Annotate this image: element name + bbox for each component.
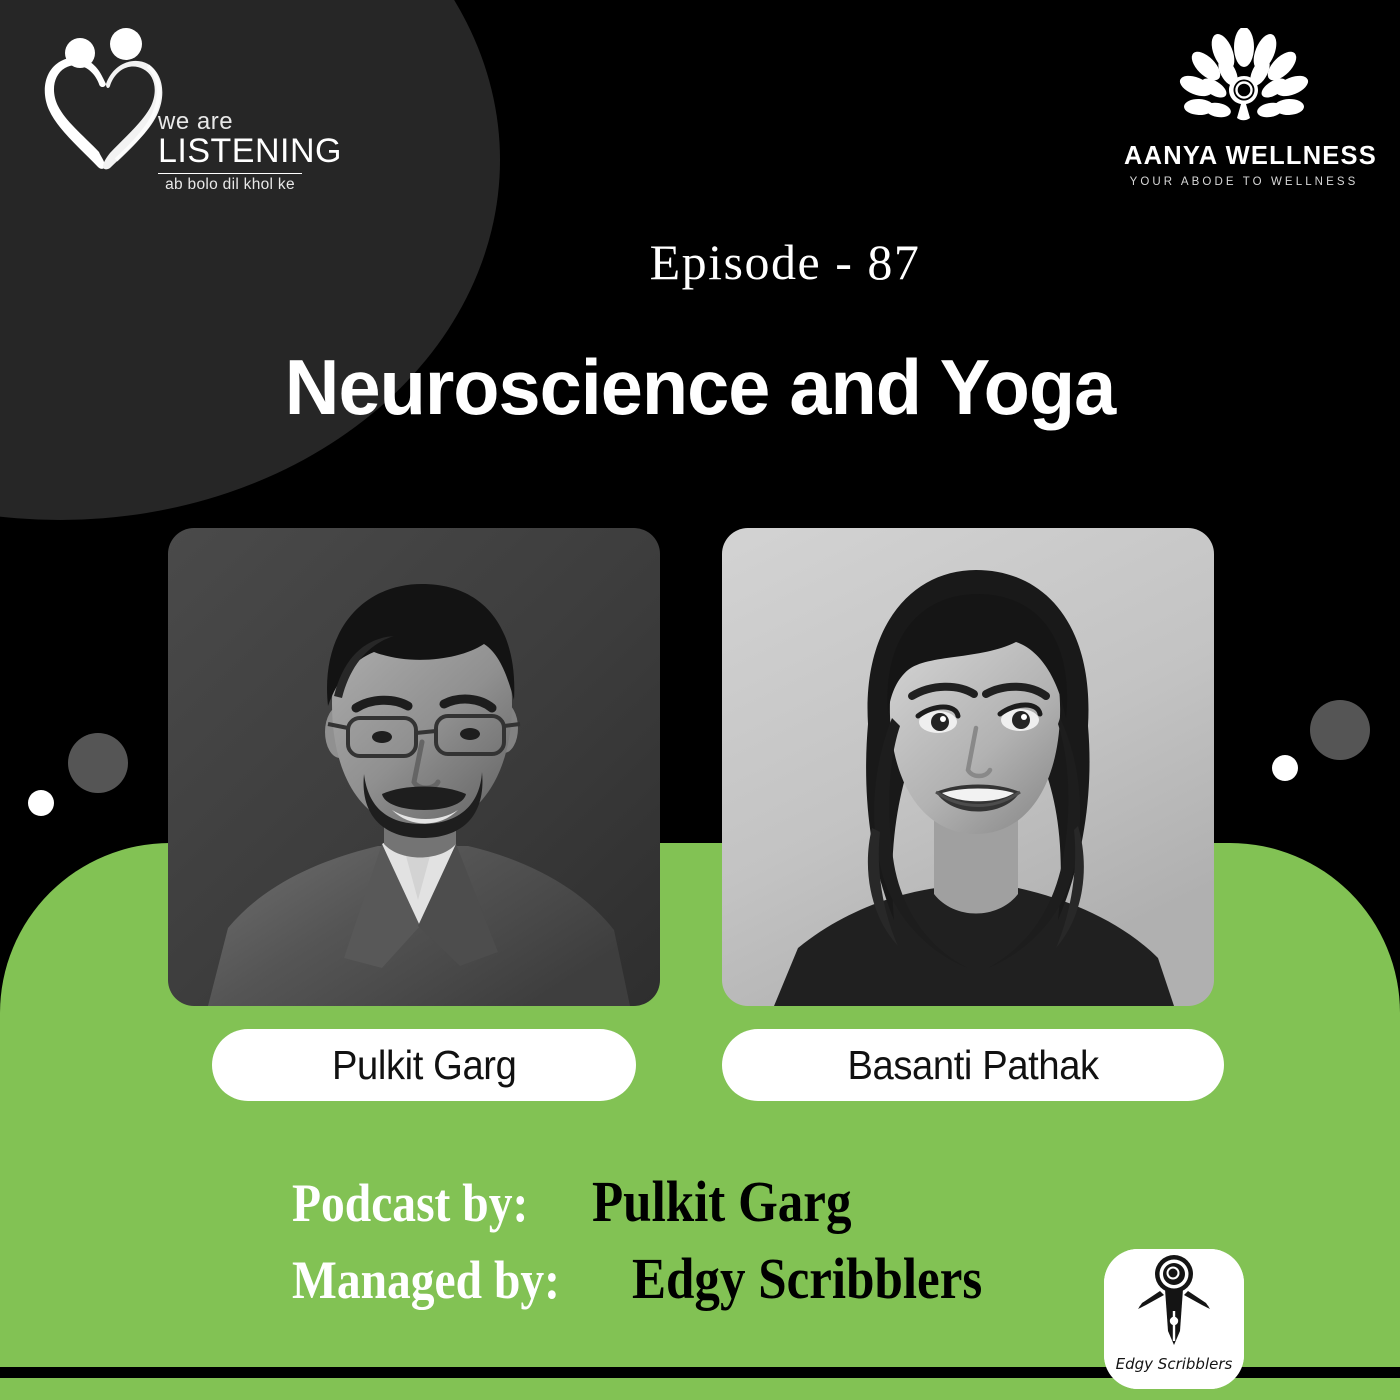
guest-name-right: Basanti Pathak: [847, 1042, 1098, 1089]
managed-by-label: Managed by:: [292, 1249, 626, 1311]
guest-name-left: Pulkit Garg: [332, 1042, 517, 1089]
brand-right-subtitle: YOUR ABODE TO WELLNESS: [1124, 176, 1364, 188]
credit-row-podcast: Podcast by: Pulkit Garg: [292, 1168, 1030, 1235]
white-dot-right: [1272, 755, 1298, 781]
edgy-scribblers-badge: Edgy Scribblers: [1104, 1249, 1244, 1389]
guest-photo-basanti-pathak: [722, 528, 1214, 1006]
managed-by-value: Edgy Scribblers: [632, 1245, 982, 1312]
brand-left-divider: [158, 173, 302, 175]
svg-text:Edgy Scribblers: Edgy Scribblers: [1116, 1355, 1233, 1373]
page-title: Neuroscience and Yoga: [21, 342, 1379, 433]
guest-name-pill-right: Basanti Pathak: [722, 1029, 1224, 1101]
we-are-listening-logo: we are LISTENING ab bolo dil khol ke: [30, 26, 290, 186]
podcast-cover: we are LISTENING ab bolo dil khol ke: [0, 0, 1400, 1400]
brand-left-tagline: ab bolo dil khol ke: [158, 176, 302, 194]
episode-label: Episode - 87: [0, 233, 1400, 291]
grey-dot-left: [68, 733, 128, 793]
guest-photo-pulkit-garg: [168, 528, 660, 1006]
lotus-tree-meditation-icon: [1178, 28, 1310, 140]
fountain-pen-eye-icon: Edgy Scribblers: [1104, 1249, 1244, 1389]
guest-name-pill-left: Pulkit Garg: [212, 1029, 636, 1101]
podcast-by-label: Podcast by:: [292, 1172, 565, 1234]
credit-row-managed: Managed by: Edgy Scribblers: [292, 1245, 1030, 1312]
grey-dot-right: [1310, 700, 1370, 760]
brand-left-line2: LISTENING: [158, 134, 308, 170]
brand-right-title: AANYA WELLNESS: [1124, 142, 1364, 171]
credits-block: Podcast by: Pulkit Garg Managed by: Edgy…: [292, 1168, 1030, 1322]
podcast-by-value: Pulkit Garg: [592, 1168, 851, 1235]
aanya-wellness-logo: AANYA WELLNESS YOUR ABODE TO WELLNESS: [1124, 28, 1364, 188]
white-dot-left: [28, 790, 54, 816]
brand-left-line1: we are: [158, 110, 308, 134]
